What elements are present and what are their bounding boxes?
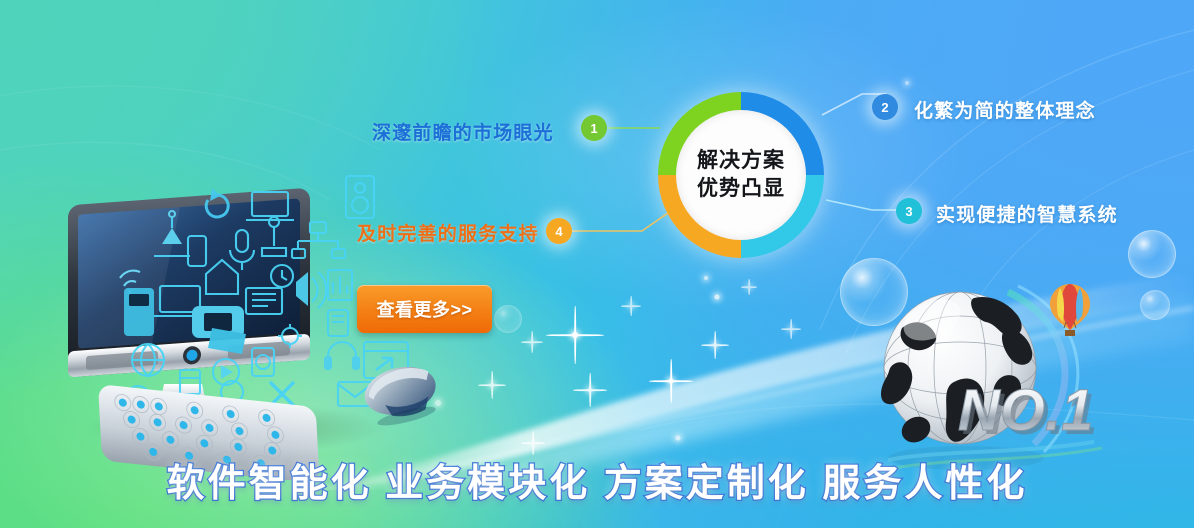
feature-4-badge[interactable]: 4	[546, 218, 572, 244]
connector-4	[572, 213, 668, 231]
bottom-slogan: 软件智能化 业务模块化 方案定制化 服务人性化	[0, 452, 1194, 507]
feature-2-label: 化繁为简的整体理念	[914, 96, 1096, 123]
feature-3-badge[interactable]: 3	[896, 198, 922, 224]
feature-1-label: 深邃前瞻的市场眼光	[372, 118, 554, 145]
feature-4-label: 及时完善的服务支持	[357, 219, 539, 246]
connector-3	[826, 200, 898, 210]
feature-3-label: 实现便捷的智慧系统	[936, 200, 1118, 227]
connector-lines	[0, 0, 1194, 528]
view-more-button[interactable]: 查看更多>>	[357, 285, 492, 333]
feature-2-badge[interactable]: 2	[872, 94, 898, 120]
feature-1-badge[interactable]: 1	[581, 115, 607, 141]
promo-banner: NO.1 NO.1 解决方案 优势凸显	[0, 0, 1194, 528]
